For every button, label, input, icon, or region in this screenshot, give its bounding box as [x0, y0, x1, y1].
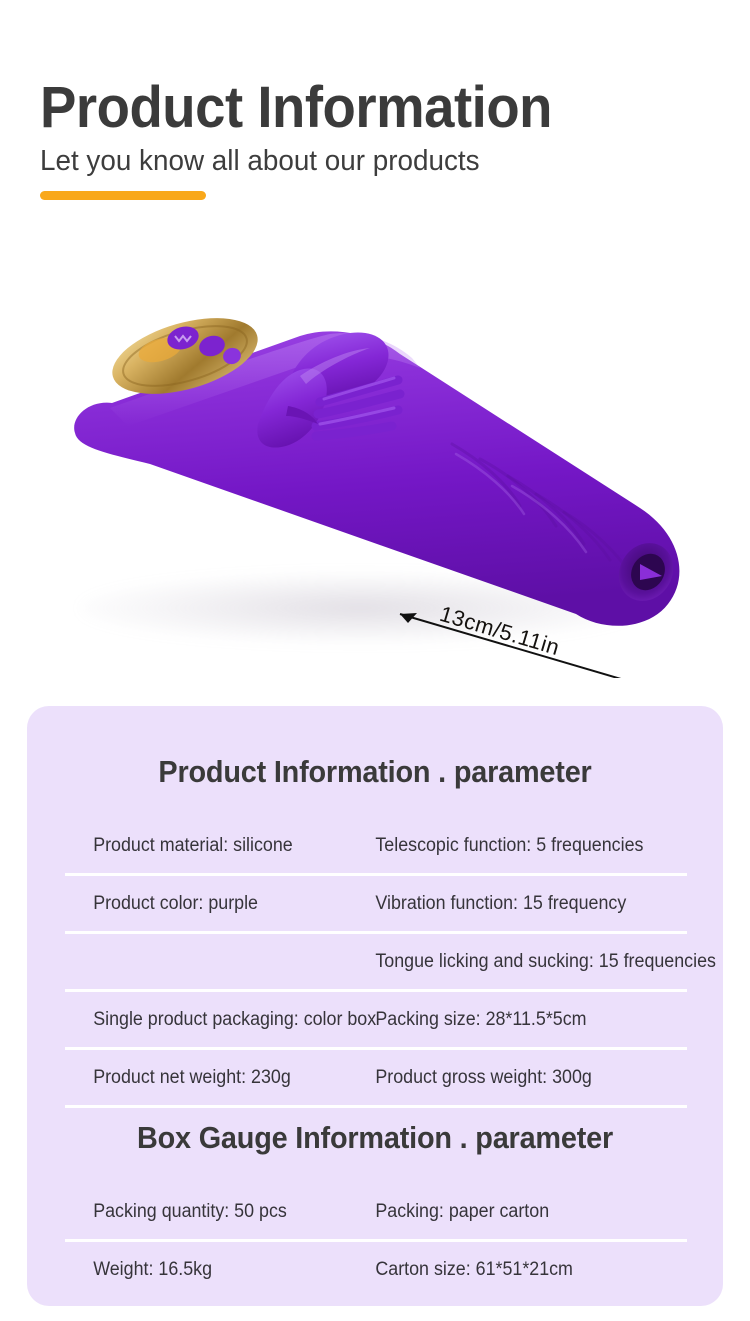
accent-underline: [40, 191, 206, 200]
spec-table-box-gauge: Packing quantity: 50 pcs Packing: paper …: [65, 1184, 687, 1297]
table-row: Packing quantity: 50 pcs Packing: paper …: [65, 1184, 687, 1242]
spec-cell-left: Single product packaging: color box: [65, 1009, 333, 1031]
spec-cell-right: Telescopic function: 5 frequencies: [350, 835, 667, 857]
section-heading-product: Product Information . parameter: [51, 754, 698, 790]
spec-cell-left: Product net weight: 230g: [65, 1067, 333, 1089]
table-row: Weight: 16.5kg Carton size: 61*51*21cm: [65, 1242, 687, 1297]
spec-cell-left: Product material: silicone: [65, 835, 333, 857]
spec-table-product: Product material: silicone Telescopic fu…: [65, 818, 687, 1108]
table-row: Product material: silicone Telescopic fu…: [65, 818, 687, 876]
table-row: Tongue licking and sucking: 15 frequenci…: [65, 934, 687, 992]
spec-panel: Product Information . parameter Product …: [27, 706, 723, 1306]
table-row: Product color: purple Vibration function…: [65, 876, 687, 934]
spec-cell-left: Packing quantity: 50 pcs: [65, 1201, 333, 1223]
product-illustration: [0, 228, 750, 678]
spec-cell-right: Packing: paper carton: [350, 1201, 667, 1223]
spec-cell-right: Tongue licking and sucking: 15 frequenci…: [350, 951, 667, 973]
spec-cell-right: Product gross weight: 300g: [350, 1067, 667, 1089]
spec-cell-right: Carton size: 61*51*21cm: [350, 1259, 667, 1281]
section-heading-box-gauge: Box Gauge Information . parameter: [51, 1120, 698, 1156]
page-subtitle: Let you know all about our products: [40, 144, 683, 178]
table-row: Product net weight: 230g Product gross w…: [65, 1050, 687, 1108]
spec-cell-right: Vibration function: 15 frequency: [350, 893, 667, 915]
product-figure: 13cm/5.11in 24cm/9.44in 3.5cm/1.37in: [0, 228, 750, 678]
page-header: Product Information Let you know all abo…: [40, 78, 710, 200]
spec-cell-left: Product color: purple: [65, 893, 333, 915]
spec-cell-right: Packing size: 28*11.5*5cm: [350, 1009, 667, 1031]
table-row: Single product packaging: color box Pack…: [65, 992, 687, 1050]
spec-cell-left: Weight: 16.5kg: [65, 1259, 333, 1281]
page-title: Product Information: [40, 78, 670, 138]
